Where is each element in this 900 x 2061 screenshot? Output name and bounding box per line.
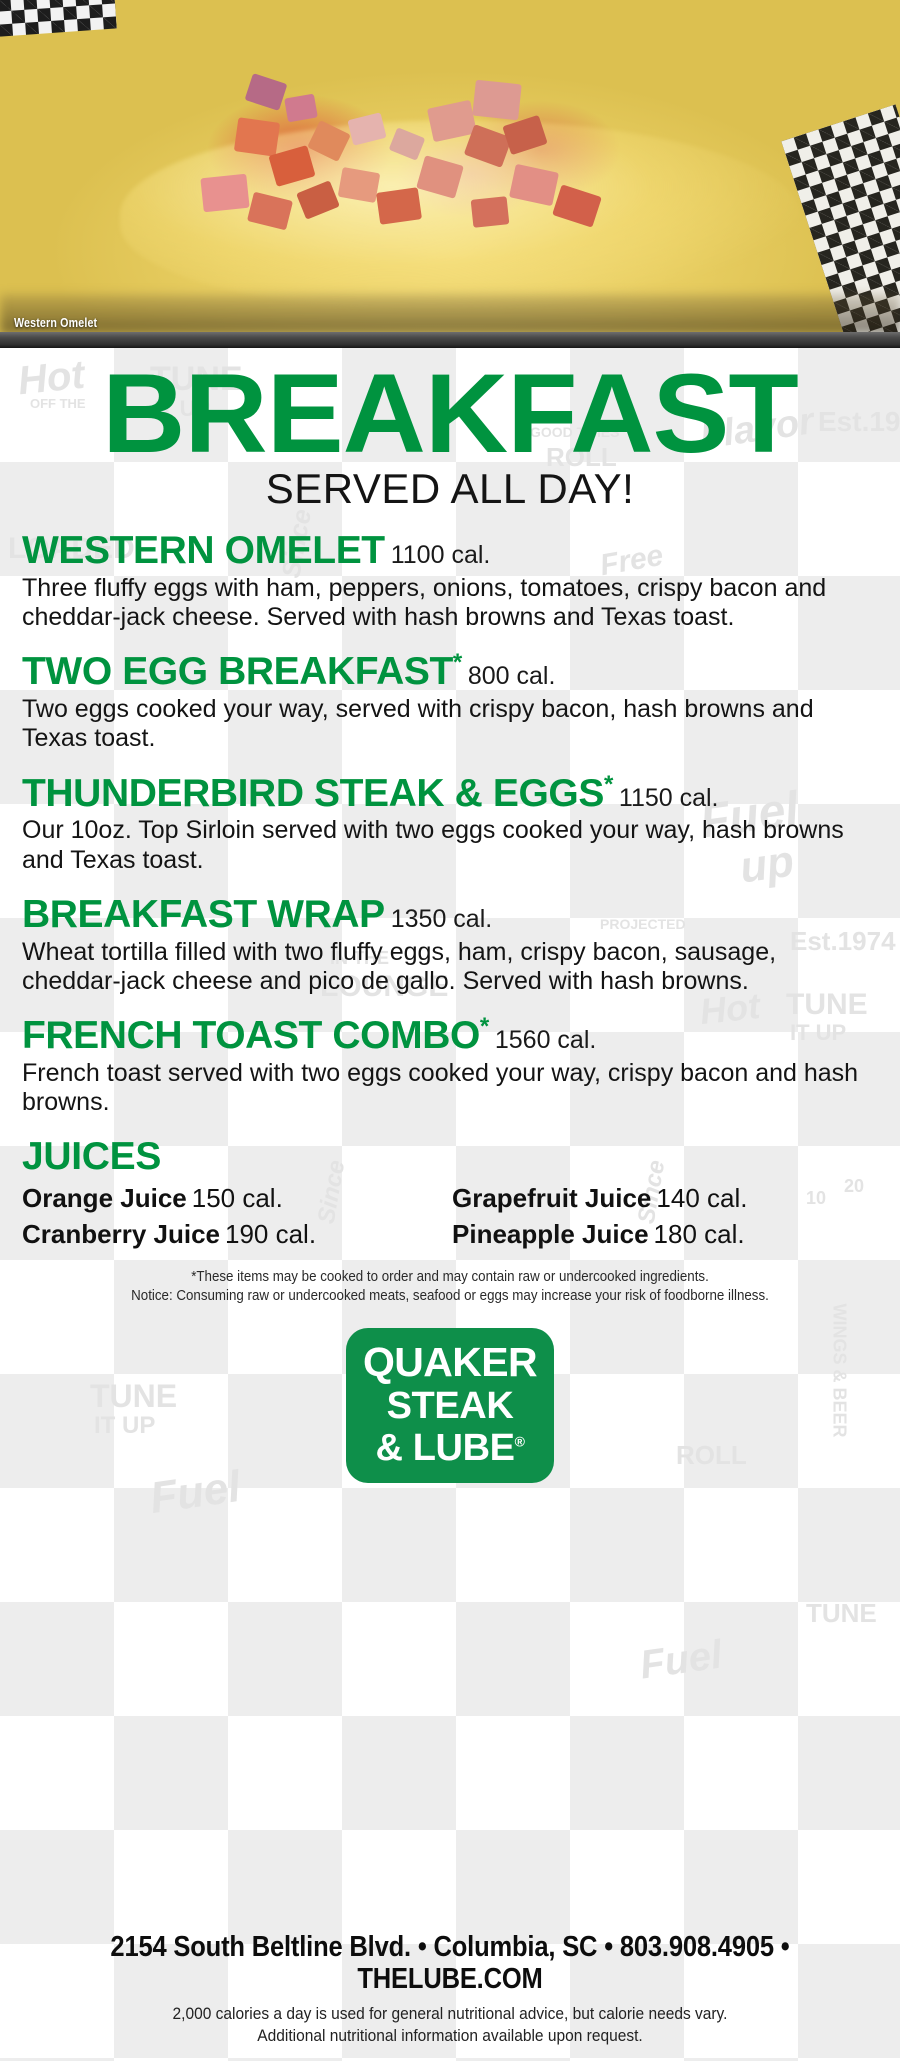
menu-item-name: TWO EGG BREAKFAST*800 cal. xyxy=(22,652,878,692)
juices-section: JUICES Orange Juice150 cal.Grapefruit Ju… xyxy=(22,1137,878,1252)
brand-logo-wrap: QUAKER STEAK & LUBE® xyxy=(22,1328,878,1483)
menu-page: Western Omelet HotOFF THETUNEIT UPFlavor… xyxy=(0,0,900,2061)
menu-item-description: Wheat tortilla filled with two fluffy eg… xyxy=(22,938,878,997)
plate-shadow xyxy=(0,294,900,334)
disclaimer-line-1: *These items may be cooked to order and … xyxy=(56,1268,844,1287)
menu-item-name: BREAKFAST WRAP1350 cal. xyxy=(22,895,878,935)
menu-item-title-text: THUNDERBIRD STEAK & EGGS xyxy=(22,772,604,815)
menu-item-description: Our 10oz. Top Sirloin served with two eg… xyxy=(22,816,878,875)
menu-item-calories: 800 cal. xyxy=(468,662,556,690)
juice-item: Grapefruit Juice140 cal. xyxy=(452,1182,878,1216)
juices-grid: Orange Juice150 cal.Grapefruit Juice140 … xyxy=(22,1182,878,1252)
menu-item-description: Three fluffy eggs with ham, peppers, oni… xyxy=(22,574,878,633)
menu-item-title-text: TWO EGG BREAKFAST xyxy=(22,650,453,693)
menu-item-name: FRENCH TOAST COMBO*1560 cal. xyxy=(22,1016,878,1056)
juice-item: Cranberry Juice190 cal. xyxy=(22,1218,452,1252)
diced-garnish xyxy=(200,174,249,213)
diced-garnish xyxy=(376,187,422,225)
juice-calories: 180 cal. xyxy=(654,1219,745,1249)
menu-item-name: WESTERN OMELET1100 cal. xyxy=(22,531,878,571)
asterisk-footnote-marker: * xyxy=(480,1013,489,1040)
menu-item: TWO EGG BREAKFAST*800 cal.Two eggs cooke… xyxy=(22,652,878,753)
logo-line-quaker: QUAKER xyxy=(356,1342,544,1383)
diced-garnish xyxy=(234,117,280,157)
juice-name: Pineapple Juice xyxy=(452,1219,649,1249)
hero-photo-western-omelet: Western Omelet xyxy=(0,0,900,348)
menu-item: BREAKFAST WRAP1350 cal.Wheat tortilla fi… xyxy=(22,895,878,996)
hero-caption: Western Omelet xyxy=(14,315,97,330)
logo-lube-text: & LUBE xyxy=(376,1427,515,1469)
omelet-highlight xyxy=(120,120,800,310)
watermark-text: Fuel xyxy=(637,1632,725,1688)
menu-item-calories: 1350 cal. xyxy=(391,905,492,933)
menu-body: HotOFF THETUNEIT UPFlavorEst.1974GOOD TI… xyxy=(0,348,900,2061)
menu-item-title-text: FRENCH TOAST COMBO xyxy=(22,1014,480,1057)
quaker-steak-and-lube-logo: QUAKER STEAK & LUBE® xyxy=(346,1328,554,1483)
allergen-disclaimer: *These items may be cooked to order and … xyxy=(56,1268,844,1306)
menu-item: WESTERN OMELET1100 cal.Three fluffy eggs… xyxy=(22,531,878,632)
asterisk-footnote-marker: * xyxy=(604,771,613,798)
juice-name: Orange Juice xyxy=(22,1183,187,1213)
watermark-text: TUNE xyxy=(806,1598,877,1629)
fineprint-line-1: 2,000 calories a day is used for general… xyxy=(27,2004,873,2025)
juice-calories: 140 cal. xyxy=(656,1183,747,1213)
menu-item-calories: 1100 cal. xyxy=(391,541,491,569)
menu-item-title-text: BREAKFAST WRAP xyxy=(22,893,385,936)
menu-item-description: French toast served with two eggs cooked… xyxy=(22,1059,878,1118)
menu-header: BREAKFAST SERVED ALL DAY! xyxy=(22,348,878,511)
page-title: BREAKFAST xyxy=(9,362,891,465)
juice-name: Cranberry Juice xyxy=(22,1219,220,1249)
footer: 2154 South Beltline Blvd. • Columbia, SC… xyxy=(0,1932,900,2061)
juice-name: Grapefruit Juice xyxy=(452,1183,651,1213)
menu-item: THUNDERBIRD STEAK & EGGS*1150 cal.Our 10… xyxy=(22,774,878,875)
menu-item-title-text: WESTERN OMELET xyxy=(22,529,385,572)
menu-content: BREAKFAST SERVED ALL DAY! WESTERN OMELET… xyxy=(22,348,878,1483)
diced-garnish xyxy=(471,196,510,228)
disclaimer-line-2: Notice: Consuming raw or undercooked mea… xyxy=(56,1287,844,1306)
fineprint-line-2: Additional nutritional information avail… xyxy=(27,2026,873,2047)
menu-item-name: THUNDERBIRD STEAK & EGGS*1150 cal. xyxy=(22,774,878,814)
asterisk-footnote-marker: * xyxy=(453,649,462,676)
registered-trademark-icon: ® xyxy=(515,1434,525,1450)
menu-item-calories: 1150 cal. xyxy=(619,784,719,812)
juice-item: Orange Juice150 cal. xyxy=(22,1182,452,1216)
logo-line-and-lube: & LUBE® xyxy=(356,1429,544,1467)
diced-garnish xyxy=(284,94,318,123)
hero-bottom-edge xyxy=(0,332,900,348)
store-address-line: 2154 South Beltline Blvd. • Columbia, SC… xyxy=(54,1932,846,1996)
menu-item: FRENCH TOAST COMBO*1560 cal.French toast… xyxy=(22,1016,878,1117)
juice-item: Pineapple Juice180 cal. xyxy=(452,1218,878,1252)
juice-calories: 150 cal. xyxy=(192,1183,283,1213)
footer-fineprint: 2,000 calories a day is used for general… xyxy=(27,2004,873,2047)
menu-item-calories: 1560 cal. xyxy=(495,1026,596,1054)
menu-item-description: Two eggs cooked your way, served with cr… xyxy=(22,695,878,754)
juices-heading: JUICES xyxy=(22,1137,878,1178)
juice-calories: 190 cal. xyxy=(225,1219,316,1249)
menu-items-list: WESTERN OMELET1100 cal.Three fluffy eggs… xyxy=(22,531,878,1117)
logo-line-steak: STEAK xyxy=(356,1387,544,1425)
diced-garnish xyxy=(338,167,381,203)
diced-garnish xyxy=(472,80,522,121)
